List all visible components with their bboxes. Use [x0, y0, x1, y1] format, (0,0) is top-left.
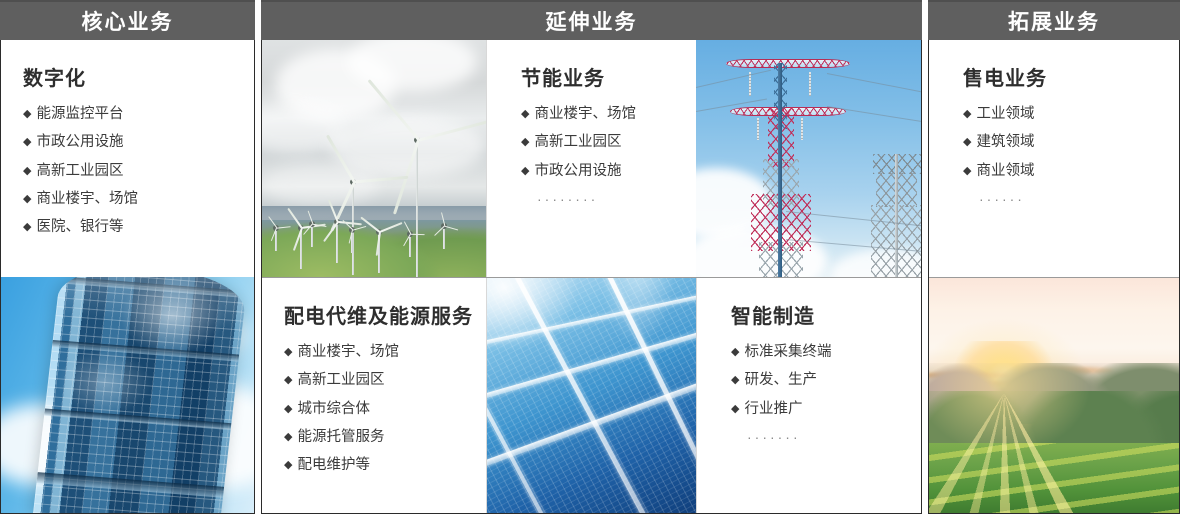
list-item: ◆ 市政公用设施	[521, 157, 678, 185]
list-item-label: 高新工业园区	[36, 157, 123, 185]
diamond-bullet-icon: ◆	[23, 217, 31, 238]
panel-digitalization: 数字化 ◆ 能源监控平台 ◆ 市政公用设施 ◆ 高新工业园区	[1, 40, 254, 277]
wind-turbine	[344, 227, 360, 253]
text-block-distribution-om: 配电代维及能源服务 ◆ 商业楼宇、场馆 ◆ 高新工业园区 ◆	[262, 278, 486, 489]
diamond-bullet-icon: ◆	[963, 104, 971, 125]
list-item: ◆ 医院、银行等	[23, 213, 236, 241]
business-structure-diagram: 核心业务 数字化 ◆ 能源监控平台 ◆ 市政公用设施	[0, 0, 1180, 514]
panel-smart-manufacturing: 智能制造 ◆ 标准采集终端 ◆ 研发、生产 ◆	[697, 278, 921, 513]
diamond-bullet-icon: ◆	[284, 455, 292, 476]
list-item: ◆ 配电维护等	[284, 451, 468, 479]
diamond-bullet-icon: ◆	[731, 399, 739, 420]
wind-turbine	[402, 231, 418, 257]
sunlight-wash	[929, 278, 1179, 513]
bullet-list-smart-manufacturing: ◆ 标准采集终端 ◆ 研发、生产 ◆ 行业推广	[731, 338, 903, 423]
list-item-label: 商业楼宇、场馆	[36, 185, 138, 213]
sun-glare	[487, 278, 696, 513]
column-header-core: 核心业务	[0, 0, 255, 40]
text-block-digitalization: 数字化 ◆ 能源监控平台 ◆ 市政公用设施 ◆ 高新工业园区	[1, 40, 254, 251]
list-item: ◆ 商业楼宇、场馆	[521, 100, 678, 128]
list-item: ◆ 能源监控平台	[23, 100, 236, 128]
image-glass-skyscraper	[1, 277, 254, 513]
column-core-business: 核心业务 数字化 ◆ 能源监控平台 ◆ 市政公用设施	[0, 0, 255, 514]
diamond-bullet-icon: ◆	[284, 370, 292, 391]
panel-title-electricity-retail: 售电业务	[963, 62, 1161, 91]
diamond-bullet-icon: ◆	[23, 104, 31, 125]
list-item: ◆ 城市综合体	[284, 395, 468, 423]
column-body-extend: 节能业务 ◆ 商业楼宇、场馆 ◆ 高新工业园区 ◆	[261, 40, 922, 514]
list-item-label: 高新工业园区	[534, 128, 621, 156]
diamond-bullet-icon: ◆	[284, 342, 292, 363]
image-transmission-tower	[696, 40, 921, 277]
list-item-label: 医院、银行等	[36, 213, 123, 241]
column-header-expand: 拓展业务	[928, 0, 1180, 40]
pylon-crossarm-top	[726, 59, 850, 68]
list-item: ◆ 市政公用设施	[23, 128, 236, 156]
list-item-label: 建筑领域	[976, 128, 1034, 156]
list-item: ◆ 商业楼宇、场馆	[284, 338, 468, 366]
list-item-label: 配电维护等	[297, 451, 370, 479]
power-line	[826, 73, 921, 95]
list-item: ◆ 高新工业园区	[521, 128, 678, 156]
pylon-center-mast	[895, 154, 898, 277]
list-item-label: 研发、生产	[744, 366, 817, 394]
bullet-list-energy-saving: ◆ 商业楼宇、场馆 ◆ 高新工业园区 ◆ 市政公用设施	[521, 100, 678, 185]
list-item: ◆ 商业楼宇、场馆	[23, 185, 236, 213]
diamond-bullet-icon: ◆	[731, 370, 739, 391]
list-item: ◆ 建筑领域	[963, 128, 1161, 156]
wind-turbine	[436, 223, 452, 249]
skyscraper-shape	[32, 277, 248, 513]
list-item-label: 商业领域	[976, 157, 1034, 185]
list-item-label: 市政公用设施	[534, 157, 621, 185]
insulator-string	[809, 72, 811, 96]
more-indicator: ······	[963, 191, 1161, 207]
bullet-list-distribution-om: ◆ 商业楼宇、场馆 ◆ 高新工业园区 ◆ 城市综合体	[284, 338, 468, 479]
list-item: ◆ 高新工业园区	[23, 157, 236, 185]
text-block-energy-saving: 节能业务 ◆ 商业楼宇、场馆 ◆ 高新工业园区 ◆	[487, 40, 696, 217]
distant-pylon	[863, 154, 922, 277]
list-item: ◆ 工业领域	[963, 100, 1161, 128]
diamond-bullet-icon: ◆	[521, 161, 529, 182]
insulator-string	[757, 118, 759, 140]
power-line	[826, 106, 921, 124]
list-item-label: 工业领域	[976, 100, 1034, 128]
diamond-bullet-icon: ◆	[963, 132, 971, 153]
image-sunrise-mountains	[929, 278, 1179, 513]
panel-energy-saving: 节能业务 ◆ 商业楼宇、场馆 ◆ 高新工业园区 ◆	[487, 40, 696, 277]
list-item: ◆ 研发、生产	[731, 366, 903, 394]
wind-turbine	[366, 229, 392, 273]
diamond-bullet-icon: ◆	[23, 189, 31, 210]
image-solar-panels	[487, 278, 696, 513]
list-item: ◆ 能源托管服务	[284, 423, 468, 451]
diamond-bullet-icon: ◆	[284, 427, 292, 448]
list-item-label: 商业楼宇、场馆	[297, 338, 399, 366]
more-indicator: ········	[521, 191, 678, 207]
wind-turbine	[304, 221, 320, 247]
list-item: ◆ 行业推广	[731, 395, 903, 423]
panel-distribution-om: 配电代维及能源服务 ◆ 商业楼宇、场馆 ◆ 高新工业园区 ◆	[262, 278, 486, 513]
diamond-bullet-icon: ◆	[23, 132, 31, 153]
list-item-label: 能源托管服务	[297, 423, 384, 451]
list-item: ◆ 标准采集终端	[731, 338, 903, 366]
list-item-label: 市政公用设施	[36, 128, 123, 156]
more-indicator: ·······	[731, 429, 903, 445]
pylon-center-mast	[778, 63, 782, 277]
list-item-label: 高新工业园区	[297, 366, 384, 394]
column-body-core: 数字化 ◆ 能源监控平台 ◆ 市政公用设施 ◆ 高新工业园区	[0, 40, 255, 514]
glass-reflection	[32, 277, 248, 513]
diamond-bullet-icon: ◆	[731, 342, 739, 363]
diamond-bullet-icon: ◆	[521, 104, 529, 125]
diamond-bullet-icon: ◆	[521, 132, 529, 153]
text-block-electricity-retail: 售电业务 ◆ 工业领域 ◆ 建筑领域 ◆ 商业领域	[929, 40, 1179, 217]
list-item-label: 商业楼宇、场馆	[534, 100, 636, 128]
panel-title-distribution-om: 配电代维及能源服务	[284, 300, 468, 329]
list-item: ◆ 商业领域	[963, 157, 1161, 185]
bullet-list-electricity-retail: ◆ 工业领域 ◆ 建筑领域 ◆ 商业领域	[963, 100, 1161, 185]
diamond-bullet-icon: ◆	[963, 161, 971, 182]
diamond-bullet-icon: ◆	[23, 161, 31, 182]
panel-title-smart-manufacturing: 智能制造	[731, 300, 903, 329]
wind-turbine	[268, 225, 284, 251]
column-expansion-business: 拓展业务 售电业务 ◆ 工业领域 ◆ 建筑领域	[928, 0, 1180, 514]
list-item-label: 城市综合体	[297, 395, 370, 423]
image-wind-farm	[262, 40, 486, 277]
list-item: ◆ 高新工业园区	[284, 366, 468, 394]
text-block-smart-manufacturing: 智能制造 ◆ 标准采集终端 ◆ 研发、生产 ◆	[697, 278, 921, 455]
column-header-extend: 延伸业务	[261, 0, 922, 40]
list-item-label: 标准采集终端	[744, 338, 831, 366]
list-item-label: 行业推广	[744, 395, 802, 423]
panel-electricity-retail: 售电业务 ◆ 工业领域 ◆ 建筑领域 ◆ 商业领域	[929, 40, 1179, 277]
extend-bottom-row: 配电代维及能源服务 ◆ 商业楼宇、场馆 ◆ 高新工业园区 ◆	[262, 278, 921, 513]
column-extended-business: 延伸业务	[261, 0, 922, 514]
bullet-list-digitalization: ◆ 能源监控平台 ◆ 市政公用设施 ◆ 高新工业园区 ◆	[23, 100, 236, 241]
list-item-label: 能源监控平台	[36, 100, 123, 128]
column-body-expand: 售电业务 ◆ 工业领域 ◆ 建筑领域 ◆ 商业领域	[928, 40, 1180, 514]
extend-top-row: 节能业务 ◆ 商业楼宇、场馆 ◆ 高新工业园区 ◆	[262, 40, 921, 277]
insulator-string	[801, 118, 803, 140]
main-pylon	[737, 59, 841, 277]
panel-title-digitalization: 数字化	[23, 62, 236, 91]
diamond-bullet-icon: ◆	[284, 399, 292, 420]
panel-title-energy-saving: 节能业务	[521, 62, 678, 91]
